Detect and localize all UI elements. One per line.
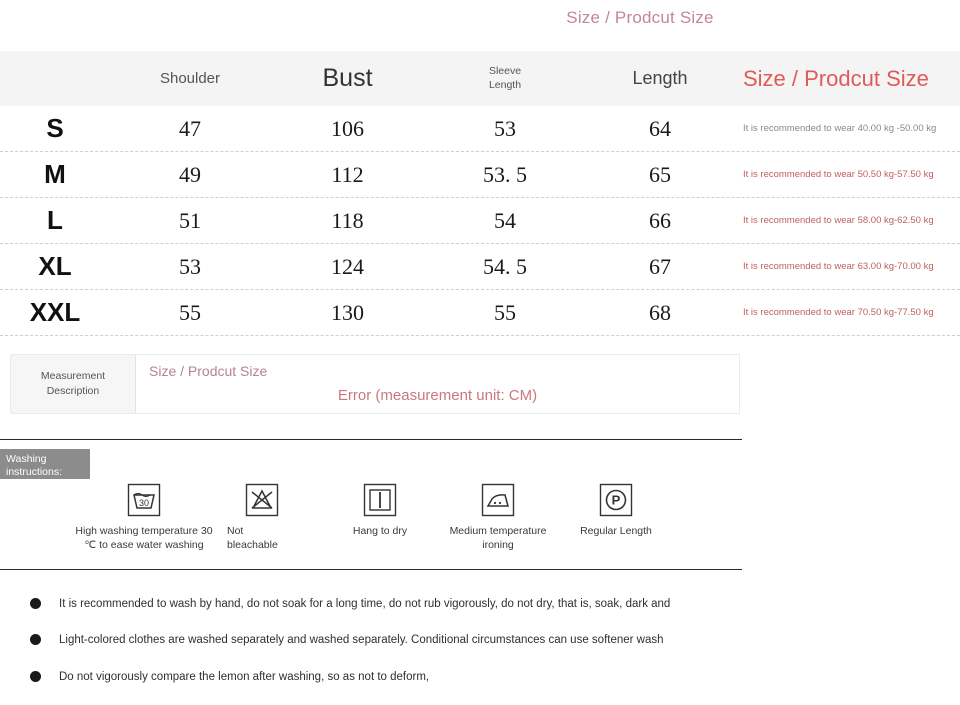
care-item-wash-30: 30 High washing temperature 30 ℃ to ease… <box>85 482 203 552</box>
divider-above-washing <box>0 439 742 440</box>
cell-sleeve: 54. 5 <box>425 254 585 280</box>
cell-bust: 118 <box>270 208 425 234</box>
washing-badge-line2: instructions: <box>6 466 84 479</box>
measurement-description-box: Measurement Description Size / Prodcut S… <box>10 354 740 414</box>
cell-bust: 130 <box>270 300 425 326</box>
table-header-row: Shoulder Bust Sleeve Length Length Size … <box>0 51 960 106</box>
header-recommendation: Size / Prodcut Size <box>735 66 960 92</box>
header-length: Length <box>585 68 735 89</box>
measurement-label-line2: Description <box>41 384 105 399</box>
header-shoulder: Shoulder <box>110 70 270 87</box>
note-text: Do not vigorously compare the lemon afte… <box>59 669 429 686</box>
care-item-iron-medium: Medium temperature ironing <box>439 482 557 552</box>
measurement-error-text: Error (measurement unit: CM) <box>136 387 739 404</box>
table-row: S 47 106 53 64 It is recommended to wear… <box>0 106 960 152</box>
measurement-size-text: Size / Prodcut Size <box>149 363 267 379</box>
hang-to-dry-icon <box>362 482 398 518</box>
cell-bust: 106 <box>270 116 425 142</box>
no-bleach-icon <box>244 482 280 518</box>
cell-shoulder: 53 <box>110 254 270 280</box>
measurement-description-label: Measurement Description <box>11 355 136 413</box>
cell-sleeve: 55 <box>425 300 585 326</box>
cell-recommendation: It is recommended to wear 50.50 kg-57.50… <box>735 168 960 182</box>
top-size-caption: Size / Prodcut Size <box>540 8 740 38</box>
iron-medium-icon <box>480 482 516 518</box>
cell-sleeve: 53 <box>425 116 585 142</box>
cell-sleeve: 53. 5 <box>425 162 585 188</box>
cell-sleeve: 54 <box>425 208 585 234</box>
cell-length: 67 <box>585 254 735 280</box>
header-bust: Bust <box>270 64 425 93</box>
svg-text:P: P <box>612 493 621 508</box>
list-item: It is recommended to wash by hand, do no… <box>30 596 730 613</box>
cell-shoulder: 55 <box>110 300 270 326</box>
list-item: Light-colored clothes are washed separat… <box>30 632 730 649</box>
care-caption: Regular Length <box>560 524 672 538</box>
care-notes-list: It is recommended to wash by hand, do no… <box>30 596 730 705</box>
care-item-hang-dry: Hang to dry <box>321 482 439 538</box>
bullet-icon <box>30 671 41 682</box>
care-caption: Not bleachable <box>227 524 297 552</box>
svg-text:30: 30 <box>139 498 149 508</box>
header-sleeve-length-line2: Length <box>425 79 585 92</box>
cell-bust: 112 <box>270 162 425 188</box>
washing-badge-line1: Washing <box>6 453 84 466</box>
cell-length: 64 <box>585 116 735 142</box>
care-caption: Hang to dry <box>324 524 436 538</box>
cell-recommendation: It is recommended to wear 40.00 kg -50.0… <box>735 122 960 136</box>
header-sleeve-length: Sleeve Length <box>425 65 585 91</box>
cell-length: 65 <box>585 162 735 188</box>
table-row: XXL 55 130 55 68 It is recommended to we… <box>0 290 960 336</box>
care-symbols-row: 30 High washing temperature 30 ℃ to ease… <box>85 482 725 552</box>
table-row: L 51 118 54 66 It is recommended to wear… <box>0 198 960 244</box>
cell-shoulder: 51 <box>110 208 270 234</box>
list-item: Do not vigorously compare the lemon afte… <box>30 669 730 686</box>
measurement-label-line1: Measurement <box>41 369 105 384</box>
care-caption: Medium temperature ironing <box>442 524 554 552</box>
cell-length: 66 <box>585 208 735 234</box>
cell-recommendation: It is recommended to wear 63.00 kg-70.00… <box>735 260 960 274</box>
table-row: M 49 112 53. 5 65 It is recommended to w… <box>0 152 960 198</box>
care-item-professional-clean: P Regular Length <box>557 482 675 538</box>
divider-below-washing <box>0 569 742 570</box>
care-caption: High washing temperature 30 ℃ to ease wa… <box>69 524 219 552</box>
bullet-icon <box>30 634 41 645</box>
cell-size: M <box>0 159 110 190</box>
note-text: It is recommended to wash by hand, do no… <box>59 596 670 613</box>
cell-size: L <box>0 205 110 236</box>
cell-size: XXL <box>0 297 110 328</box>
measurement-description-body: Size / Prodcut Size Error (measurement u… <box>136 355 739 413</box>
cell-shoulder: 49 <box>110 162 270 188</box>
cell-recommendation: It is recommended to wear 58.00 kg-62.50… <box>735 214 960 228</box>
cell-recommendation: It is recommended to wear 70.50 kg-77.50… <box>735 306 960 320</box>
cell-bust: 124 <box>270 254 425 280</box>
header-sleeve-length-line1: Sleeve <box>425 65 585 78</box>
table-row: XL 53 124 54. 5 67 It is recommended to … <box>0 244 960 290</box>
cell-size: S <box>0 113 110 144</box>
note-text: Light-colored clothes are washed separat… <box>59 632 664 649</box>
professional-clean-p-icon: P <box>598 482 634 518</box>
cell-shoulder: 47 <box>110 116 270 142</box>
bullet-icon <box>30 598 41 609</box>
size-chart-table: Shoulder Bust Sleeve Length Length Size … <box>0 51 960 336</box>
washing-instructions-badge: Washing instructions: <box>0 449 90 479</box>
cell-length: 68 <box>585 300 735 326</box>
wash-tub-30-icon: 30 <box>126 482 162 518</box>
cell-size: XL <box>0 251 110 282</box>
care-item-no-bleach: Not bleachable <box>203 482 321 552</box>
